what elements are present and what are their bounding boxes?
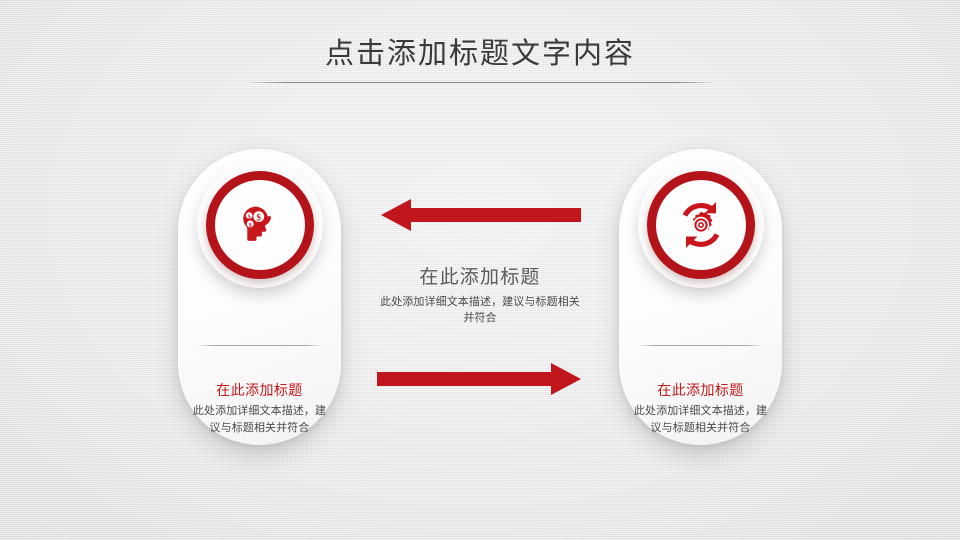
- center-text-block: 在此添加标题 此处添加详细文本描述，建议与标题相关并符合: [360, 266, 600, 327]
- badge-left: $ $ $: [197, 162, 323, 288]
- card-text-left: 在此添加标题 此处添加详细文本描述，建议与标题相关并符合: [182, 381, 337, 437]
- title-block: 点击添加标题文字内容: [0, 38, 960, 71]
- card-heading-left: 在此添加标题: [182, 381, 337, 400]
- badge-ring-right: [647, 171, 755, 279]
- center-heading: 在此添加标题: [360, 266, 600, 291]
- card-right[interactable]: 在此添加标题 此处添加详细文本描述，建议与标题相关并符合: [619, 149, 782, 445]
- arrow-right-icon: [377, 361, 581, 397]
- card-description-left: 此处添加详细文本描述，建议与标题相关并符合: [182, 403, 337, 437]
- card-divider-right: [639, 345, 762, 346]
- page-title: 点击添加标题文字内容: [0, 38, 960, 71]
- arrow-left-icon: [381, 197, 581, 233]
- badge-ring-left: $ $ $: [206, 171, 314, 279]
- slide-canvas: 点击添加标题文字内容 $: [0, 0, 960, 540]
- badge-right: [638, 162, 764, 288]
- svg-text:$: $: [247, 213, 250, 220]
- card-text-right: 在此添加标题 此处添加详细文本描述，建议与标题相关并符合: [623, 381, 778, 437]
- card-description-right: 此处添加详细文本描述，建议与标题相关并符合: [623, 403, 778, 437]
- gear-refresh-icon: [674, 198, 728, 252]
- card-left[interactable]: $ $ $ 在此添加标题 此处添加详细文本描述，建议与标题相关并符合: [178, 149, 341, 445]
- center-description: 此处添加详细文本描述，建议与标题相关并符合: [360, 294, 600, 327]
- card-divider-left: [198, 345, 321, 346]
- svg-text:$: $: [256, 212, 261, 222]
- card-heading-right: 在此添加标题: [623, 381, 778, 400]
- head-money-icon: $ $ $: [233, 198, 287, 252]
- title-underline-rule: [250, 82, 712, 83]
